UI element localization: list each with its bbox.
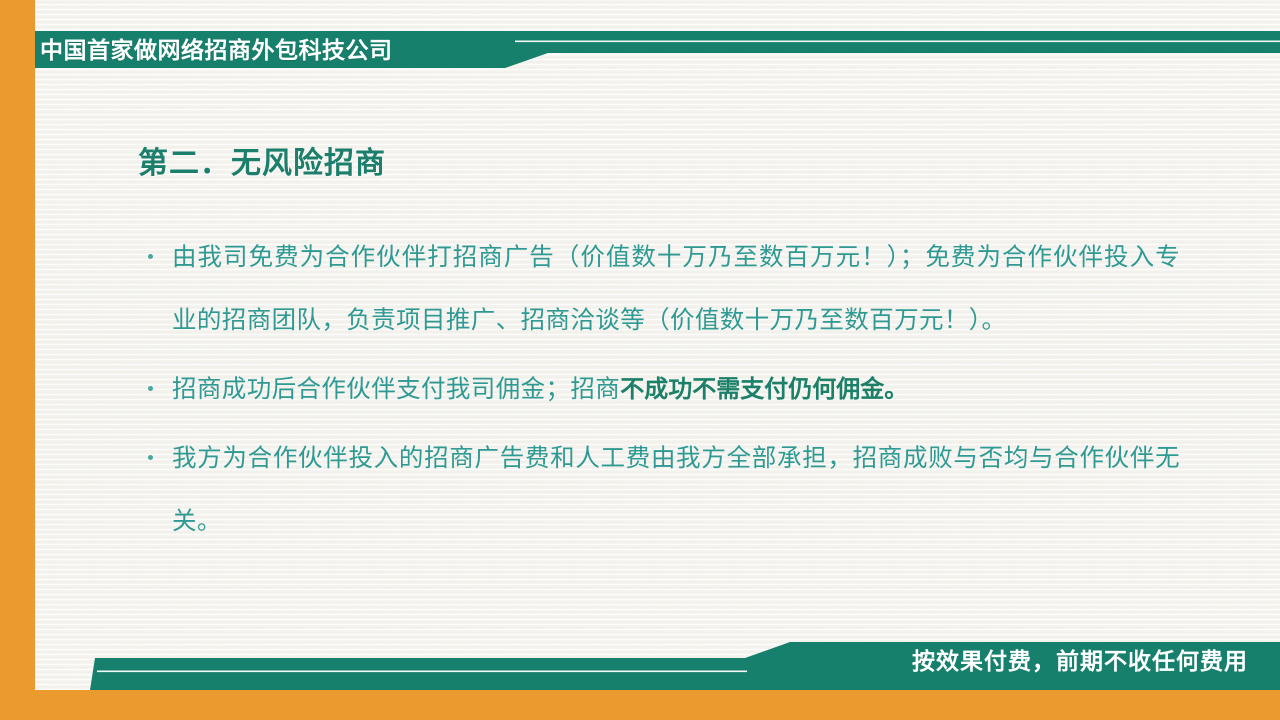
list-item-text: 招商成功后合作伙伴支付我司佣金；招商 <box>172 376 620 403</box>
presentation-slide: 中国首家做网络招商外包科技公司 第二．无风险招商 由我司免费为合作伙伴打招商广告… <box>0 0 1280 720</box>
bullet-dot-icon <box>148 455 153 460</box>
header-title: 中国首家做网络招商外包科技公司 <box>40 33 520 67</box>
footer-accent-line <box>97 671 747 673</box>
bullet-list: 由我司免费为合作伙伴打招商广告（价值数十万乃至数百万元！）；免费为合作伙伴投入专… <box>140 226 1180 559</box>
header-accent-line <box>515 41 1280 43</box>
list-item: 招商成功后合作伙伴支付我司佣金；招商不成功不需支付仍何佣金。 <box>140 358 1180 421</box>
list-item-text: 由我司免费为合作伙伴打招商广告（价值数十万乃至数百万元！）；免费为合作伙伴投入专… <box>172 244 1180 334</box>
bullet-dot-icon <box>148 254 153 259</box>
list-item: 由我司免费为合作伙伴打招商广告（价值数十万乃至数百万元！）；免费为合作伙伴投入专… <box>140 226 1180 352</box>
page-title: 第二．无风险招商 <box>138 138 386 182</box>
list-item: 我方为合作伙伴投入的招商广告费和人工费由我方全部承担，招商成败与否均与合作伙伴无… <box>140 427 1180 553</box>
bullet-dot-icon <box>148 386 153 391</box>
list-item-emphasis: 不成功不需支付仍何佣金。 <box>620 376 908 403</box>
footer-tagline: 按效果付费，前期不收任何费用 <box>912 645 1248 677</box>
list-item-text: 我方为合作伙伴投入的招商广告费和人工费由我方全部承担，招商成败与否均与合作伙伴无… <box>172 445 1180 535</box>
